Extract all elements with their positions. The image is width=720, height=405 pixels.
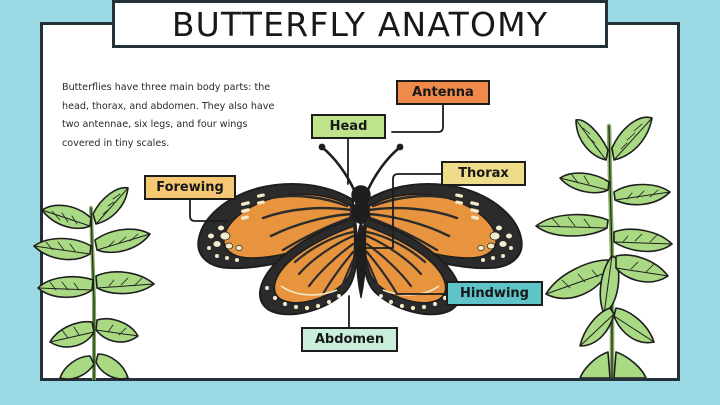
label-hindwing[interactable]: Hindwing [446,281,543,306]
poster-canvas: Antenna Head Thorax Forewing Hindwing Ab… [0,0,720,405]
label-thorax-text: Thorax [458,166,509,181]
title-banner: BUTTERFLY ANATOMY [112,0,608,48]
intro-paragraph: Butterflies have three main body parts: … [62,79,277,153]
plant-left-illustration [18,180,168,385]
label-thorax[interactable]: Thorax [441,161,526,186]
plant-right-illustration [528,108,698,383]
label-head-text: Head [330,119,368,134]
label-head[interactable]: Head [311,114,386,139]
label-forewing[interactable]: Forewing [144,175,236,200]
label-antenna[interactable]: Antenna [396,80,490,105]
label-antenna-text: Antenna [412,85,474,100]
label-abdomen[interactable]: Abdomen [301,327,398,352]
label-hindwing-text: Hindwing [460,286,529,301]
page-title: BUTTERFLY ANATOMY [172,5,548,44]
intro-paragraph-block: Butterflies have three main body parts: … [62,79,277,153]
label-abdomen-text: Abdomen [315,332,384,347]
label-forewing-text: Forewing [156,180,224,195]
